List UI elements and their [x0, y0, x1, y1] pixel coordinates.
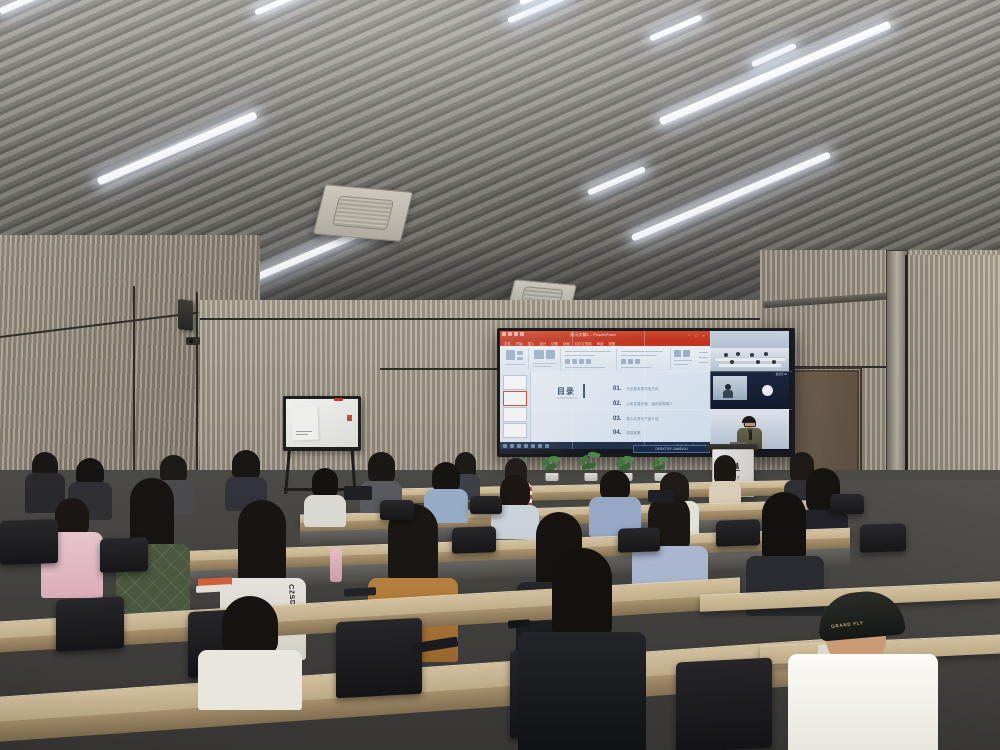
toc-item: 03. 核心业务与产品介绍 [613, 416, 659, 422]
whiteboard-surface[interactable] [286, 399, 358, 447]
video-conference-panels[interactable]: 会议室 01 会议室 02 主 [710, 331, 789, 449]
tab-animations[interactable]: 动画 [563, 341, 570, 346]
toc-text: 核心业务与产品介绍 [626, 416, 658, 421]
wall-speaker [178, 299, 193, 331]
torso [304, 495, 346, 527]
laptop [344, 486, 372, 500]
hair [368, 452, 395, 484]
hair [552, 548, 612, 644]
remote-person [756, 360, 760, 364]
tab-transitions[interactable]: 切换 [551, 341, 558, 346]
tab-insert[interactable]: 插入 [528, 341, 535, 346]
tab-slideshow[interactable]: 幻灯片放映 [575, 341, 592, 346]
whiteboard-marker[interactable] [334, 398, 343, 401]
windows-taskbar[interactable]: DESKTOP-1N66V0J [633, 445, 710, 453]
hair [762, 492, 806, 566]
toc-text: 行业基本情况及方向 [626, 386, 658, 391]
chair[interactable] [470, 496, 502, 514]
hair [222, 596, 278, 656]
hair [432, 462, 460, 492]
chair[interactable] [676, 657, 772, 750]
toc-number: 04. [613, 430, 621, 436]
chair[interactable] [380, 500, 414, 520]
chair[interactable] [618, 527, 660, 552]
whiteboard[interactable] [283, 396, 361, 451]
feed-caption: 会议室 01 [776, 332, 787, 336]
led-video-wall[interactable]: 演示文稿1 - PowerPoint − □ × 文件 开始 插入 设计 切换 … [497, 328, 795, 457]
ribbon-group-slides[interactable] [530, 348, 561, 370]
slide-thumbnail-panel[interactable] [500, 372, 531, 442]
ac-grill [332, 195, 395, 231]
ribbon-group-editing[interactable] [698, 348, 709, 370]
water-bottle [330, 548, 342, 582]
toc-item: 01. 行业基本情况及方向 [613, 386, 659, 392]
video-wall-seam [644, 331, 645, 449]
chair[interactable] [860, 523, 906, 553]
hair [232, 450, 260, 480]
tab-view[interactable]: 视图 [608, 341, 615, 346]
remote-person [750, 353, 754, 357]
toc-number: 02. [613, 401, 621, 407]
window-controls[interactable]: − □ × [688, 333, 707, 338]
quick-access-toolbar[interactable] [502, 332, 524, 336]
laptop [648, 490, 674, 502]
powerpoint-title-text: 演示文稿1 - PowerPoint [570, 332, 616, 338]
computer-name-label: DESKTOP-1N66V0J [655, 447, 687, 451]
hair [312, 468, 338, 498]
lecture-hall-photo: 演示文稿1 - PowerPoint − □ × 文件 开始 插入 设计 切换 … [0, 0, 1000, 750]
torso [518, 632, 646, 750]
potted-plant [578, 452, 604, 481]
video-wall-seam [500, 409, 792, 410]
tab-design[interactable]: 设计 [539, 341, 546, 346]
ribbon-group-font[interactable] [562, 348, 617, 370]
remote-inset-feed[interactable]: 会议室 02 [710, 371, 789, 410]
ribbon-group-clipboard[interactable] [502, 348, 529, 370]
wall-seam [133, 286, 135, 491]
whiteboard-writing [296, 431, 312, 432]
chair[interactable] [336, 618, 422, 699]
video-wall-seam [572, 331, 573, 449]
potted-plant [540, 455, 564, 481]
feed-caption: 主讲人 [779, 410, 787, 414]
hair [160, 455, 187, 483]
slide-canvas[interactable]: 目录 CONTENTS 01. 行业基本情况及方向 02. 公司发展历程、组织架… [531, 372, 710, 442]
chair[interactable] [716, 519, 760, 547]
ribbon[interactable] [500, 346, 710, 373]
toc-number: 01. [613, 386, 621, 392]
slide-subheading: CONTENTS [557, 396, 578, 400]
video-wall-seam [500, 371, 792, 372]
slide-thumbnail[interactable] [503, 391, 527, 406]
chair[interactable] [100, 537, 148, 573]
text-cursor [583, 384, 585, 398]
chair[interactable] [56, 596, 124, 652]
toc-text: 校招政策 [626, 430, 640, 435]
feed-caption: 会议室 02 [776, 372, 787, 376]
presenter-glasses [744, 422, 756, 427]
tablet-device [344, 587, 376, 597]
torso [788, 654, 938, 750]
whiteboard-sticky-note [347, 415, 352, 421]
hair [600, 470, 630, 500]
hair [76, 458, 104, 485]
plant-pot [585, 473, 598, 481]
wall-seam [196, 292, 198, 492]
tab-review[interactable]: 审阅 [597, 341, 604, 346]
powerpoint-title-bar: 演示文稿1 - PowerPoint − □ × [500, 331, 710, 340]
toc-number: 03. [613, 416, 621, 422]
video-wall-seam [710, 331, 711, 449]
ac-cassette-unit [313, 184, 414, 242]
chair[interactable] [0, 519, 58, 565]
plant-pot [546, 473, 559, 481]
microphone-icon [749, 431, 752, 440]
remote-person [730, 360, 734, 364]
remote-person [724, 353, 728, 357]
remote-person [764, 352, 768, 356]
remote-person [736, 352, 740, 356]
wall-seam [200, 318, 790, 320]
ribbon-group-drawing[interactable] [672, 348, 696, 370]
hair [500, 475, 530, 508]
smartphone [508, 619, 530, 628]
slide-thumbnail[interactable] [503, 375, 527, 390]
light-glare [762, 385, 773, 396]
tab-home[interactable]: 开始 [516, 341, 523, 346]
remote-classroom-feed[interactable]: 会议室 01 [710, 331, 789, 372]
remote-person [772, 360, 776, 364]
remote-person-body [723, 390, 733, 398]
toc-item: 04. 校招政策 [613, 430, 641, 436]
toc-text: 公司发展历程、组织架构简介 [626, 401, 673, 406]
powerpoint-window[interactable]: 演示文稿1 - PowerPoint − □ × 文件 开始 插入 设计 切换 … [500, 331, 710, 449]
whiteboard-writing [296, 434, 308, 435]
chair[interactable] [452, 526, 496, 554]
slide-thumbnail[interactable] [503, 423, 527, 438]
torso [198, 650, 302, 710]
whiteboard-paper [291, 407, 318, 441]
tab-file[interactable]: 文件 [504, 341, 511, 346]
hair [55, 498, 89, 536]
chair[interactable] [830, 494, 864, 514]
